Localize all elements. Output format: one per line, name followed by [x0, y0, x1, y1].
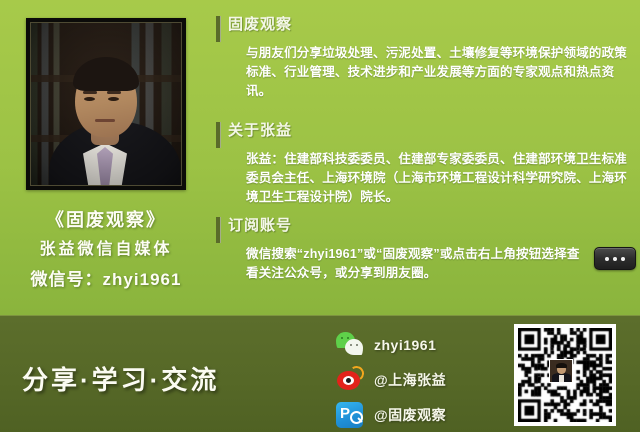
- qsearch-icon: P: [336, 401, 364, 429]
- section-about-zhang-yi: 关于张益 张益：住建部科技委委员、住建部专家委委员、住建部环境卫生标准委员会主任…: [212, 120, 640, 207]
- section-title: 关于张益: [228, 122, 292, 139]
- wechat-icon: [336, 331, 364, 359]
- upper-content-area: 《固废观察》 张益微信自媒体 微信号：zhyi1961 固废观察 与朋友们分享垃…: [0, 0, 640, 315]
- section-accent-bar: [216, 16, 221, 42]
- more-options-button[interactable]: [594, 247, 636, 270]
- more-dot: [613, 257, 617, 261]
- social-label-wechat: zhyi1961: [374, 337, 436, 353]
- section-accent-bar: [216, 217, 221, 243]
- slogan-text: 分享·学习·交流: [22, 360, 219, 397]
- caption-subtitle: 张益微信自媒体: [0, 235, 212, 265]
- section-title: 订阅账号: [228, 217, 292, 234]
- section-header: 固废观察: [212, 14, 640, 44]
- right-column: 固废观察 与朋友们分享垃圾处理、污泥处置、土壤修复等环境保护领域的政策标准、行业…: [212, 0, 640, 315]
- section-accent-bar: [216, 122, 221, 148]
- social-accounts-list: zhyi1961 @上海张益 P @固废观察: [336, 328, 496, 432]
- more-dot: [621, 257, 625, 261]
- more-dot: [605, 257, 609, 261]
- left-caption-block: 《固废观察》 张益微信自媒体 微信号：zhyi1961: [0, 205, 212, 295]
- wechat-qr-code[interactable]: [514, 324, 616, 426]
- section-header: 关于张益: [212, 120, 640, 150]
- portrait-frame: [26, 18, 186, 190]
- caption-title: 《固废观察》: [0, 205, 212, 235]
- section-header: 订阅账号: [212, 215, 640, 245]
- social-label-weibo: @上海张益: [374, 370, 446, 390]
- qr-embedded-avatar: [549, 359, 573, 383]
- left-column: 《固废观察》 张益微信自媒体 微信号：zhyi1961: [0, 0, 212, 315]
- portrait-image: [30, 22, 182, 186]
- caption-wechat-id: 微信号：zhyi1961: [0, 265, 212, 295]
- bottom-bar: 分享·学习·交流 zhyi1961 @上海张益: [0, 315, 640, 432]
- section-solid-waste-observation: 固废观察 与朋友们分享垃圾处理、污泥处置、土壤修复等环境保护领域的政策标准、行业…: [212, 14, 640, 101]
- section-body: 微信搜索“zhyi1961”或“固废观察”或点击右上角按钮选择查看关注公众号，或…: [246, 245, 588, 283]
- weibo-icon: [336, 366, 364, 394]
- section-title: 固废观察: [228, 16, 292, 33]
- social-row-weibo[interactable]: @上海张益: [336, 363, 496, 396]
- section-body: 张益：住建部科技委委员、住建部专家委委员、住建部环境卫生标准委员会主任、上海环境…: [246, 150, 634, 207]
- section-subscribe-account: 订阅账号 微信搜索“zhyi1961”或“固废观察”或点击右上角按钮选择查看关注…: [212, 215, 640, 283]
- social-row-wechat[interactable]: zhyi1961: [336, 328, 496, 361]
- social-row-qsearch[interactable]: P @固废观察: [336, 398, 496, 431]
- section-body: 与朋友们分享垃圾处理、污泥处置、土壤修复等环境保护领域的政策标准、行业管理、技术…: [246, 44, 634, 101]
- wechat-promo-poster: 《固废观察》 张益微信自媒体 微信号：zhyi1961 固废观察 与朋友们分享垃…: [0, 0, 640, 432]
- photo-vignette: [31, 23, 181, 185]
- social-label-qsearch: @固废观察: [374, 405, 446, 425]
